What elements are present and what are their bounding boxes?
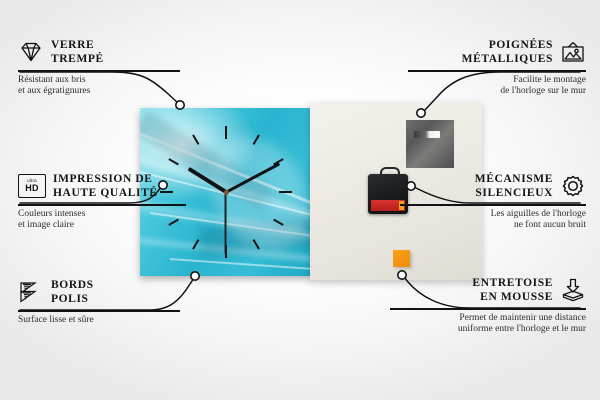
feature-mecanisme-silencieux: MÉCANISME SILENCIEUX Les aiguilles de l'… — [400, 172, 586, 232]
feature-title-line1: VERRE — [51, 38, 104, 52]
feature-title-line2: HAUTE QUALITÉ — [53, 186, 158, 200]
feature-divider — [18, 70, 180, 72]
feature-divider — [18, 204, 186, 206]
feature-description: Facilite le montage de l'horloge sur le … — [408, 75, 586, 98]
feature-title-line1: IMPRESSION DE — [53, 172, 158, 186]
feature-title-line2: SILENCIEUX — [475, 186, 553, 200]
gear-icon — [560, 174, 586, 198]
feature-divider — [400, 204, 586, 206]
feature-poignees-metalliques: POIGNÉES MÉTALLIQUES Facilite le montage… — [408, 38, 586, 98]
infographic-canvas: VERRE TREMPÉ Résistant aux bris et aux é… — [0, 0, 600, 400]
feature-header: VERRE TREMPÉ — [18, 38, 180, 66]
feature-title-line1: ENTRETOISE — [472, 276, 553, 290]
feature-description: Les aiguilles de l'horloge ne font aucun… — [400, 209, 586, 232]
diamond-icon — [18, 40, 44, 64]
feature-title-line1: MÉCANISME — [475, 172, 553, 186]
connector-dot-verre — [176, 101, 184, 109]
polished-edges-icon — [18, 280, 44, 304]
feature-divider — [408, 70, 586, 72]
feature-title-line1: BORDS — [51, 278, 94, 292]
feature-divider — [390, 308, 586, 310]
feature-entretoise-en-mousse: ENTRETOISE EN MOUSSE Permet de maintenir… — [390, 276, 586, 336]
feature-title-line2: EN MOUSSE — [472, 290, 553, 304]
connector-dot-poignees — [417, 109, 425, 117]
foam-spacer-arrow-icon — [560, 278, 586, 302]
feature-title-line1: POIGNÉES — [462, 38, 553, 52]
feature-header: ultra HD IMPRESSION DE HAUTE QUALITÉ — [18, 172, 186, 200]
ultra-hd-badge-icon: ultra HD — [18, 174, 46, 198]
feature-divider — [18, 310, 180, 312]
feature-header: MÉCANISME SILENCIEUX — [400, 172, 586, 200]
feature-verre-trempe: VERRE TREMPÉ Résistant aux bris et aux é… — [18, 38, 180, 98]
feature-bords-polis: BORDS POLIS Surface lisse et sûre — [18, 278, 180, 326]
feature-header: BORDS POLIS — [18, 278, 180, 306]
feature-impression-haute-qualite: ultra HD IMPRESSION DE HAUTE QUALITÉ Cou… — [18, 172, 186, 232]
picture-frame-hanger-icon — [560, 40, 586, 64]
feature-description: Résistant aux bris et aux égratignures — [18, 75, 180, 98]
badge-label-hd: HD — [25, 184, 39, 193]
feature-title-line2: TREMPÉ — [51, 52, 104, 66]
feature-description: Surface lisse et sûre — [18, 315, 180, 327]
connector-dot-bords — [191, 272, 199, 280]
feature-description: Couleurs intenses et image claire — [18, 209, 186, 232]
feature-title-line2: MÉTALLIQUES — [462, 52, 553, 66]
feature-description: Permet de maintenir une distance uniform… — [390, 313, 586, 336]
feature-header: POIGNÉES MÉTALLIQUES — [408, 38, 586, 66]
feature-title-line2: POLIS — [51, 292, 94, 306]
feature-header: ENTRETOISE EN MOUSSE — [390, 276, 586, 304]
